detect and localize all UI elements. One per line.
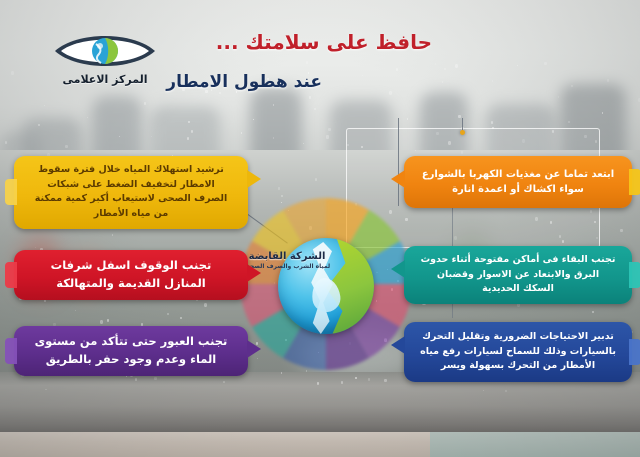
connector-line	[398, 118, 399, 206]
tip-box-reduce-traffic: تدبير الاحتياجات الضرورية وتقليل التحرك …	[404, 322, 632, 382]
tip-box-avoid-old-balconies: تجنب الوقوف اسفل شرفات المنازل القديمة و…	[14, 250, 248, 300]
tip-text: تجنب البقاء فى أماكن مفتوحة أثناء حدوث ا…	[420, 253, 616, 297]
tip-text: تدبير الاحتياجات الضرورية وتقليل التحرك …	[420, 330, 616, 374]
media-center-label: المركز الاعلامى	[44, 73, 166, 86]
connector-pin	[460, 130, 465, 135]
tip-box-avoid-crossing-water: تجنب العبور حتى تتأكد من مستوى الماء وعد…	[14, 326, 248, 376]
media-center-logo: المركز الاعلامى	[44, 30, 166, 92]
tip-text: تجنب العبور حتى تتأكد من مستوى الماء وعد…	[30, 333, 232, 369]
tip-text: ابتعد تماما عن مغذيات الكهربا بالشوارع س…	[420, 167, 616, 198]
infographic-poster: المركز الاعلامى حافظ على سلامتك ... عند …	[0, 0, 640, 457]
page-title: حافظ على سلامتك ...	[216, 30, 432, 54]
tip-text: تجنب الوقوف اسفل شرفات المنازل القديمة و…	[30, 257, 232, 293]
tip-box-avoid-lightning: تجنب البقاء فى أماكن مفتوحة أثناء حدوث ا…	[404, 246, 632, 304]
eye-globe-icon-svg	[51, 30, 159, 72]
tip-text: ترشيد استهلاك المياه خلال فترة سقوط الام…	[30, 163, 232, 222]
tip-box-water-conservation: ترشيد استهلاك المياه خلال فترة سقوط الام…	[14, 156, 248, 229]
eye-globe-icon	[51, 30, 159, 72]
tip-box-avoid-electricity: ابتعد تماما عن مغذيات الكهربا بالشوارع س…	[404, 156, 632, 208]
page-subtitle: عند هطول الامطار	[166, 72, 322, 92]
central-logo: الشركة القابضة لمياه الشرب والصرف الصحي	[238, 196, 414, 372]
